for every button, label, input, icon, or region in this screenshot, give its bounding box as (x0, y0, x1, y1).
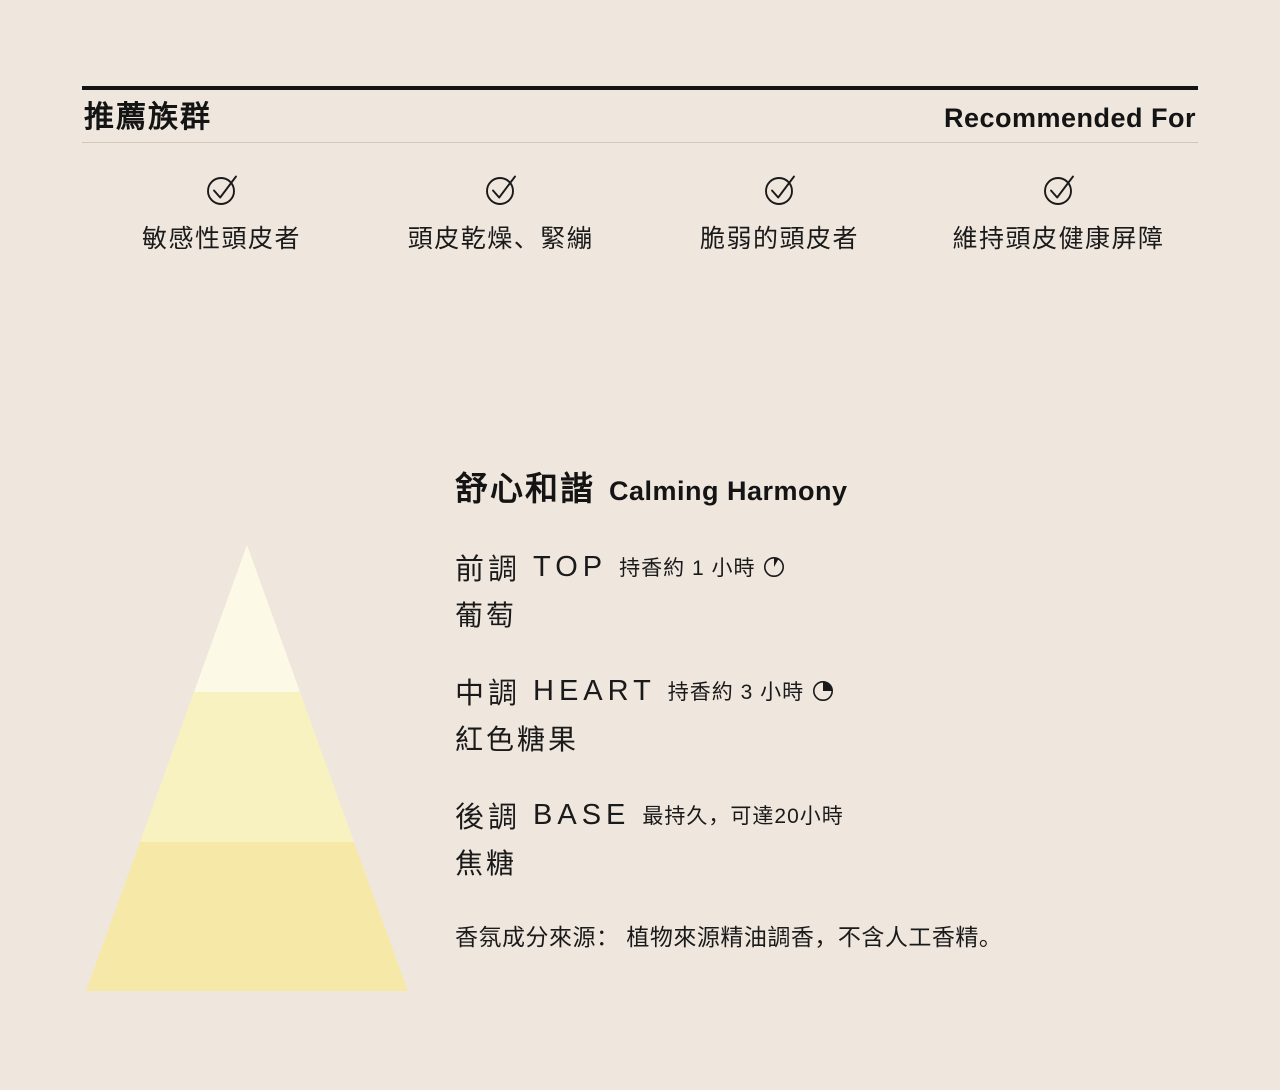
note-header: 後調 BASE 最持久，可達20小時 (455, 794, 1215, 836)
pyramid-band-middle (140, 692, 354, 842)
recommended-item: 維持頭皮健康屏障 (919, 173, 1198, 255)
recommended-item: 頭皮乾燥、緊繃 (361, 173, 640, 255)
note-name-zh: 前調 (455, 546, 521, 588)
section-title-en: Recommended For (944, 103, 1196, 134)
recommended-item-label: 敏感性頭皮者 (142, 219, 301, 255)
fragrance-text-block: 舒心和諧 Calming Harmony 前調 TOP 持香約 1 小時 葡萄 (455, 462, 1215, 952)
fragrance-title-en: Calming Harmony (609, 476, 848, 507)
fragrance-title-zh: 舒心和諧 (455, 462, 595, 510)
section-rule-bottom (82, 142, 1198, 143)
check-circle-icon (763, 173, 797, 207)
recommended-item: 敏感性頭皮者 (82, 173, 361, 255)
recommended-for-header: 推薦族群 Recommended For (82, 90, 1198, 142)
clock-pie-icon (812, 680, 834, 702)
pyramid-band-base (86, 842, 408, 991)
note-name-en: TOP (533, 551, 607, 584)
note-name-zh: 後調 (455, 794, 521, 836)
check-circle-icon (205, 173, 239, 207)
recommended-item-label: 頭皮乾燥、緊繃 (408, 219, 594, 255)
note-duration: 持香約 1 小時 (619, 552, 755, 582)
note-ingredients: 焦糖 (455, 842, 1215, 882)
note-duration: 持香約 3 小時 (668, 676, 804, 706)
recommended-for-section: 推薦族群 Recommended For 敏感性頭皮者 頭皮乾燥、緊繃 (82, 86, 1198, 255)
pyramid-band-top (194, 545, 300, 692)
note-header: 中調 HEART 持香約 3 小時 (455, 670, 1215, 712)
recommended-item: 脆弱的頭皮者 (640, 173, 919, 255)
note-name-en: HEART (533, 675, 656, 708)
check-circle-icon (1042, 173, 1076, 207)
fragrance-note-base: 後調 BASE 最持久，可達20小時 焦糖 (455, 794, 1215, 882)
check-circle-icon (484, 173, 518, 207)
note-ingredients: 葡萄 (455, 594, 1215, 634)
fragrance-pyramid-graphic (86, 545, 408, 991)
fragrance-footnote: 香氛成分來源： 植物來源精油調香，不含人工香精。 (455, 918, 1215, 952)
note-ingredients: 紅色糖果 (455, 718, 1215, 758)
note-duration: 最持久，可達20小時 (642, 800, 843, 830)
fragrance-note-top: 前調 TOP 持香約 1 小時 葡萄 (455, 546, 1215, 634)
note-header: 前調 TOP 持香約 1 小時 (455, 546, 1215, 588)
recommended-item-label: 脆弱的頭皮者 (700, 219, 859, 255)
recommended-items-list: 敏感性頭皮者 頭皮乾燥、緊繃 脆弱的頭皮者 (82, 173, 1198, 255)
fragrance-note-heart: 中調 HEART 持香約 3 小時 紅色糖果 (455, 670, 1215, 758)
clock-pie-icon (763, 556, 785, 578)
section-title-zh: 推薦族群 (84, 100, 212, 136)
note-name-en: BASE (533, 799, 630, 832)
note-name-zh: 中調 (455, 670, 521, 712)
recommended-item-label: 維持頭皮健康屏障 (952, 219, 1164, 255)
fragrance-title: 舒心和諧 Calming Harmony (455, 462, 1215, 510)
